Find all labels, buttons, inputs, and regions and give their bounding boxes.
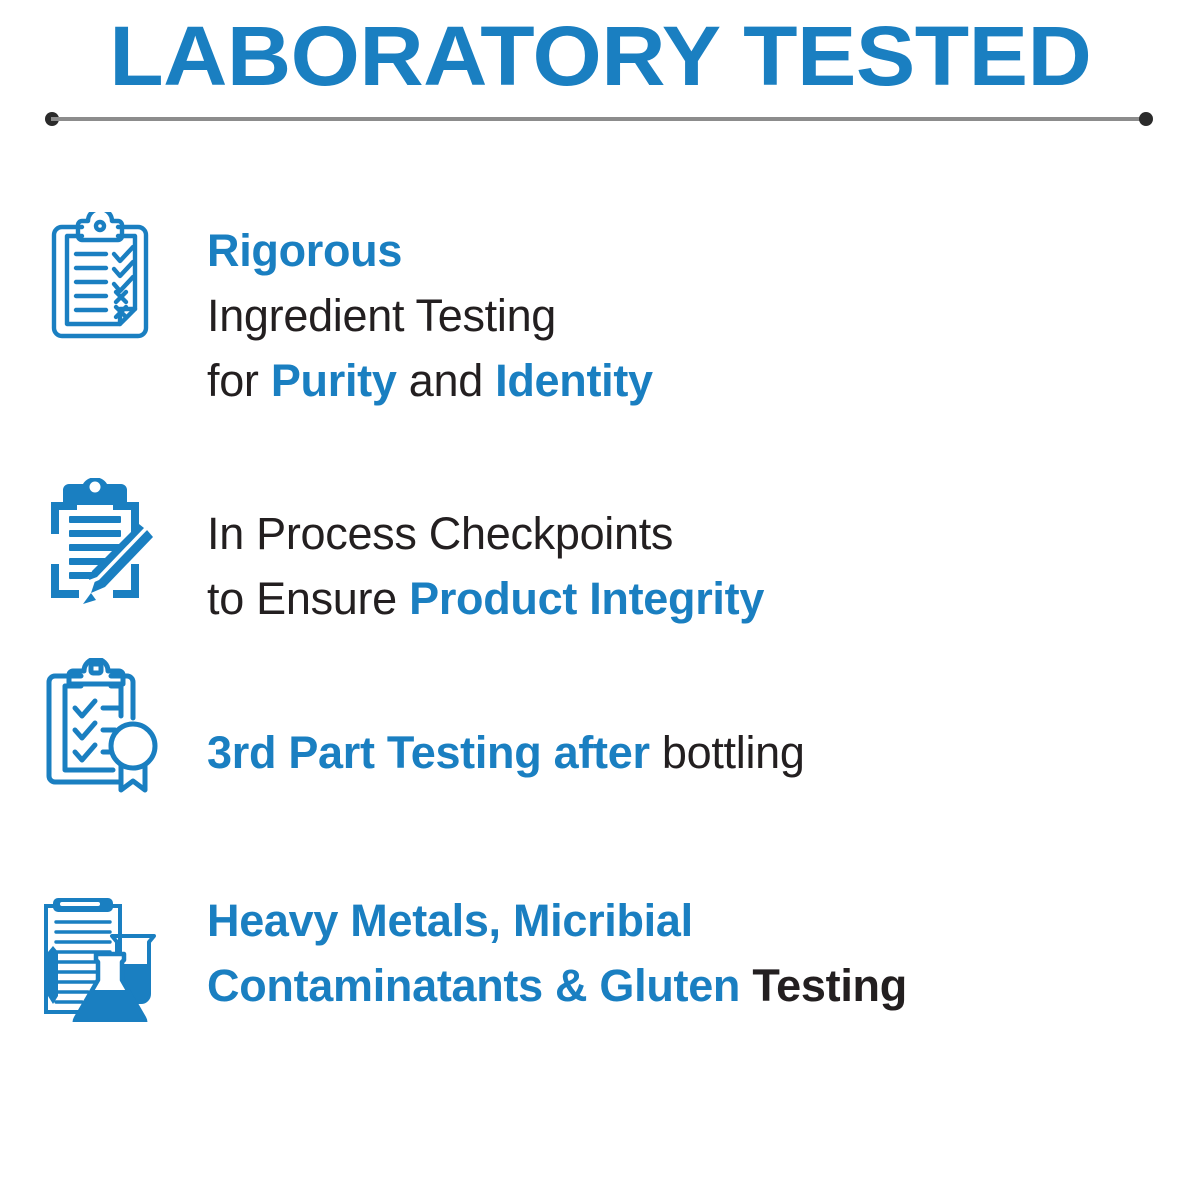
- text-span: bottling: [650, 727, 805, 778]
- clipboard-award-ribbon-icon: [41, 658, 159, 796]
- feature-icon-cell: [0, 212, 200, 346]
- feature-line: Contaminatants & Gluten Testing: [207, 953, 907, 1018]
- feature-icon-cell: [0, 888, 200, 1022]
- clipboard-pen-icon: [43, 478, 157, 614]
- text-span: 3rd Part Testing after: [207, 727, 650, 778]
- feature-row-in-process-checkpoints: In Process Checkpoints to Ensure Product…: [0, 478, 1200, 631]
- feature-line: Heavy Metals, Micribial: [207, 888, 907, 953]
- feature-icon-cell: [0, 478, 200, 614]
- header-divider: [45, 112, 1153, 126]
- text-span: Contaminatants & Gluten: [207, 960, 740, 1011]
- feature-line: Ingredient Testing: [207, 283, 653, 348]
- feature-line: 3rd Part Testing after bottling: [207, 720, 805, 785]
- clipboard-beaker-flask-icon: [38, 888, 162, 1022]
- text-span: Product Integrity: [409, 573, 764, 624]
- feature-row-rigorous-testing: Rigorous Ingredient Testing for Purity a…: [0, 212, 1200, 413]
- feature-row-contaminant-testing: Heavy Metals, Micribial Contaminatants &…: [0, 888, 1200, 1022]
- divider-dot-right-icon: [1139, 112, 1153, 126]
- text-span: Purity: [271, 355, 397, 406]
- feature-text: 3rd Part Testing after bottling: [200, 658, 805, 785]
- text-span: Ingredient Testing: [207, 290, 556, 341]
- feature-line: for Purity and Identity: [207, 348, 653, 413]
- feature-line: Rigorous: [207, 218, 653, 283]
- divider-line: [51, 117, 1147, 121]
- text-span: In Process Checkpoints: [207, 508, 673, 559]
- feature-line: In Process Checkpoints: [207, 501, 764, 566]
- text-span: Testing: [740, 960, 907, 1011]
- text-span: to Ensure: [207, 573, 409, 624]
- feature-text: Heavy Metals, Micribial Contaminatants &…: [200, 888, 907, 1018]
- clipboard-checklist-icon: [44, 212, 156, 346]
- text-span: Rigorous: [207, 225, 402, 276]
- text-span: Identity: [495, 355, 653, 406]
- feature-text: In Process Checkpoints to Ensure Product…: [200, 478, 764, 631]
- header: LABORATORY TESTED: [0, 14, 1200, 98]
- text-span: Heavy Metals, Micribial: [207, 895, 693, 946]
- feature-row-third-party-testing: 3rd Part Testing after bottling: [0, 658, 1200, 796]
- feature-text: Rigorous Ingredient Testing for Purity a…: [200, 212, 653, 413]
- feature-line: to Ensure Product Integrity: [207, 566, 764, 631]
- text-span: for: [207, 355, 271, 406]
- page-title: LABORATORY TESTED: [109, 14, 1091, 98]
- feature-icon-cell: [0, 658, 200, 796]
- text-span: and: [397, 355, 496, 406]
- laboratory-tested-infographic: LABORATORY TESTED: [0, 0, 1200, 1200]
